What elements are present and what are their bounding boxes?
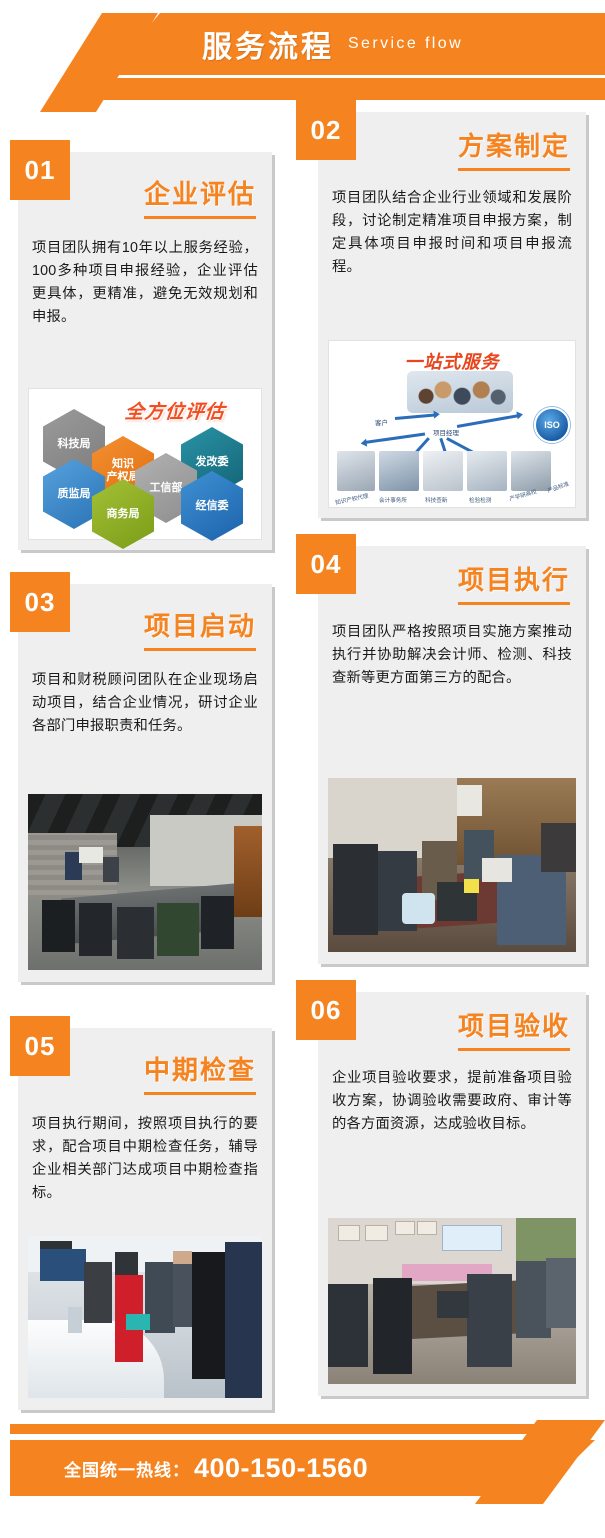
header-title-group: 服务流程 Service flow — [0, 13, 605, 75]
step-card-03[interactable]: 03 项目启动 项目和财税顾问团队在企业现场启动项目，结合企业情况，研讨企业各部… — [18, 584, 272, 982]
step-body-01: 项目团队拥有10年以上服务经验，100多种项目申报经验，企业评估更具体，更精准，… — [18, 219, 272, 342]
step-body-03: 项目和财税顾问团队在企业现场启动项目，结合企业情况，研讨企业各部门申报职责和任务… — [18, 651, 272, 750]
step-body-04: 项目团队严格按照项目实施方案推动执行并协助解决会计师、检测、科技查新等更方面第三… — [318, 605, 586, 702]
one-stop-client-label: 客户 — [375, 417, 388, 427]
page-subtitle: Service flow — [348, 35, 463, 53]
step-title-02: 方案制定 — [458, 126, 570, 171]
step-card-06[interactable]: 06 项目验收 企业项目验收要求，提前准备项目验收方案，协调验收需要政府、审计等… — [318, 992, 586, 1396]
step-body-02: 项目团队结合企业行业领域和发展阶段，讨论制定精准项目申报方案，制定具体项目申报时… — [318, 171, 586, 292]
step-card-02[interactable]: 02 方案制定 项目团队结合企业行业领域和发展阶段，讨论制定精准项目申报方案，制… — [318, 112, 586, 518]
one-stop-partner-2: 会计事务所 — [379, 496, 407, 504]
one-stop-thumb-3 — [423, 451, 463, 491]
one-stop-thumb-5 — [511, 451, 551, 491]
one-stop-thumb-4 — [467, 451, 507, 491]
one-stop-center-label: 项目经理 — [433, 427, 459, 437]
step-card-01[interactable]: 01 企业评估 项目团队拥有10年以上服务经验，100多种项目申报经验，企业评估… — [18, 152, 272, 550]
step-body-06: 企业项目验收要求，提前准备项目验收方案，协调验收需要政府、审计等的各方面资源，达… — [318, 1051, 586, 1148]
step-title-05: 中期检查 — [144, 1050, 256, 1095]
step-number-05: 05 — [10, 1016, 70, 1076]
step-number-03: 03 — [10, 572, 70, 632]
page-footer: 全国统一热线： 400-150-1560 — [0, 1424, 605, 1516]
header-banner-underbar — [92, 78, 605, 100]
page-title: 服务流程 — [202, 22, 334, 66]
hex-diagram-title: 全方位评估 — [124, 397, 227, 424]
one-stop-hero-photo — [407, 371, 513, 413]
step-title-03: 项目启动 — [144, 606, 256, 651]
one-stop-arrow-client — [395, 414, 435, 420]
footer-hotline-label: 全国统一热线： — [64, 1456, 190, 1481]
one-stop-thumb-1 — [337, 451, 375, 491]
step-number-06: 06 — [296, 980, 356, 1040]
one-stop-arrow-r1 — [457, 414, 518, 427]
media-photo-conference-room-kickoff — [28, 794, 262, 970]
footer-hotline-number[interactable]: 400-150-1560 — [194, 1453, 368, 1484]
media-hexagon-assessment-diagram: 全方位评估 科技局 知识 产权局 发改委 质监局 工信部 商务局 经信委 — [28, 388, 262, 540]
media-photo-site-inspection — [28, 1236, 262, 1398]
step-number-04: 04 — [296, 534, 356, 594]
one-stop-partner-3: 科技查新 — [425, 496, 447, 504]
step-card-04[interactable]: 04 项目执行 项目团队严格按照项目实施方案推动执行并协助解决会计师、检测、科技… — [318, 546, 586, 964]
step-title-06: 项目验收 — [458, 1006, 570, 1051]
step-body-05: 项目执行期间，按照项目执行的要求，配合项目中期检查任务，辅导企业相关部门达成项目… — [18, 1095, 272, 1218]
media-one-stop-service-diagram: 一站式服务 客户 项目经理 ISO 知识产权代理 会计事务所 科技查新 检验检测… — [328, 340, 576, 508]
one-stop-arrow-l1 — [365, 433, 425, 444]
media-photo-acceptance-meeting — [328, 1218, 576, 1384]
page-header: 服务流程 Service flow — [0, 0, 605, 112]
step-number-02: 02 — [296, 100, 356, 160]
one-stop-thumb-2 — [379, 451, 419, 491]
footer-accent-thin-bar — [10, 1424, 595, 1434]
one-stop-partner-1: 知识产权代理 — [335, 492, 370, 507]
one-stop-iso-seal: ISO — [534, 407, 570, 443]
media-photo-meeting-execution — [328, 778, 576, 952]
one-stop-partner-4: 检验检测 — [469, 496, 491, 504]
step-title-04: 项目执行 — [458, 560, 570, 605]
footer-hotline-bar: 全国统一热线： 400-150-1560 — [10, 1440, 595, 1496]
step-title-01: 企业评估 — [144, 174, 256, 219]
step-number-01: 01 — [10, 140, 70, 200]
step-card-05[interactable]: 05 中期检查 项目执行期间，按照项目执行的要求，配合项目中期检查任务，辅导企业… — [18, 1028, 272, 1410]
